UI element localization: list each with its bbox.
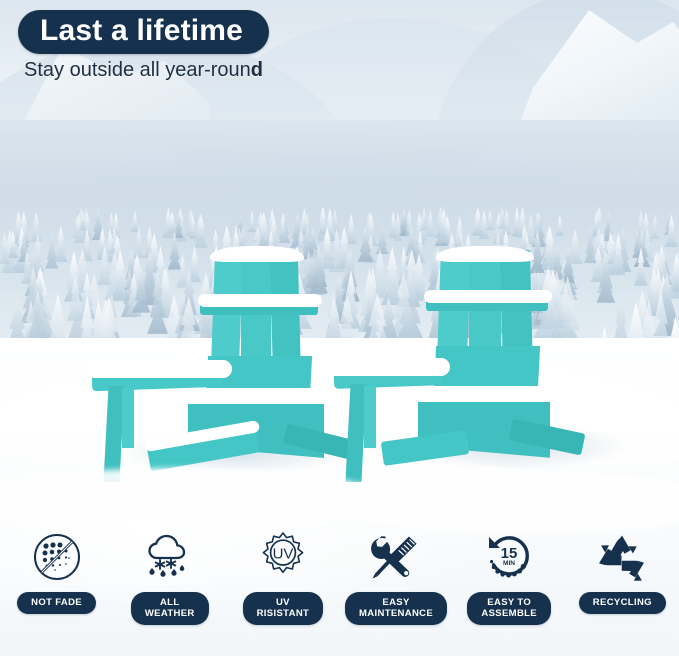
feature-easy-maintenance: EASY MAINTENANCE xyxy=(340,528,452,625)
subheadline-tail: d xyxy=(251,59,263,81)
feature-easy-assemble: 15 MIN EASY TO ASSEMBLE xyxy=(453,528,565,625)
uv-resistant-icon: UV xyxy=(252,528,314,586)
headline-block: Last a lifetime Stay outside all year-ro… xyxy=(18,10,269,81)
all-weather-icon xyxy=(139,528,201,586)
easy-assemble-icon: 15 MIN xyxy=(478,528,540,586)
feature-recycling: RECYCLING xyxy=(566,528,678,614)
headline-pill: Last a lifetime xyxy=(18,10,269,54)
recycling-icon xyxy=(591,528,653,586)
adirondack-chair-right xyxy=(330,236,630,486)
feature-label-easy-assemble: EASY TO ASSEMBLE xyxy=(467,592,551,625)
product-feature-banner: Last a lifetime Stay outside all year-ro… xyxy=(0,0,679,656)
uv-badge-text: UV xyxy=(272,545,293,562)
subheadline: Stay outside all year-round xyxy=(24,59,269,81)
feature-not-fade: NOT FADE xyxy=(1,528,113,614)
feature-label-uv-resistant: UV RISISTANT xyxy=(243,592,324,625)
not-fade-icon xyxy=(26,528,88,586)
feature-uv-resistant: UV UV RISISTANT xyxy=(227,528,339,625)
easy-maintenance-icon xyxy=(365,528,427,586)
feature-label-not-fade: NOT FADE xyxy=(17,592,96,614)
assemble-minutes-unit: MIN xyxy=(503,560,515,567)
feature-icon-row: NOT FADE ALL xyxy=(0,528,679,656)
subheadline-main: Stay outside all year-roun xyxy=(24,59,251,81)
adirondack-chair-left xyxy=(70,248,370,488)
feature-label-easy-maintenance: EASY MAINTENANCE xyxy=(345,592,447,625)
feature-label-all-weather: ALL WEATHER xyxy=(131,592,209,625)
feature-all-weather: ALL WEATHER xyxy=(114,528,226,625)
feature-label-recycling: RECYCLING xyxy=(579,592,666,614)
